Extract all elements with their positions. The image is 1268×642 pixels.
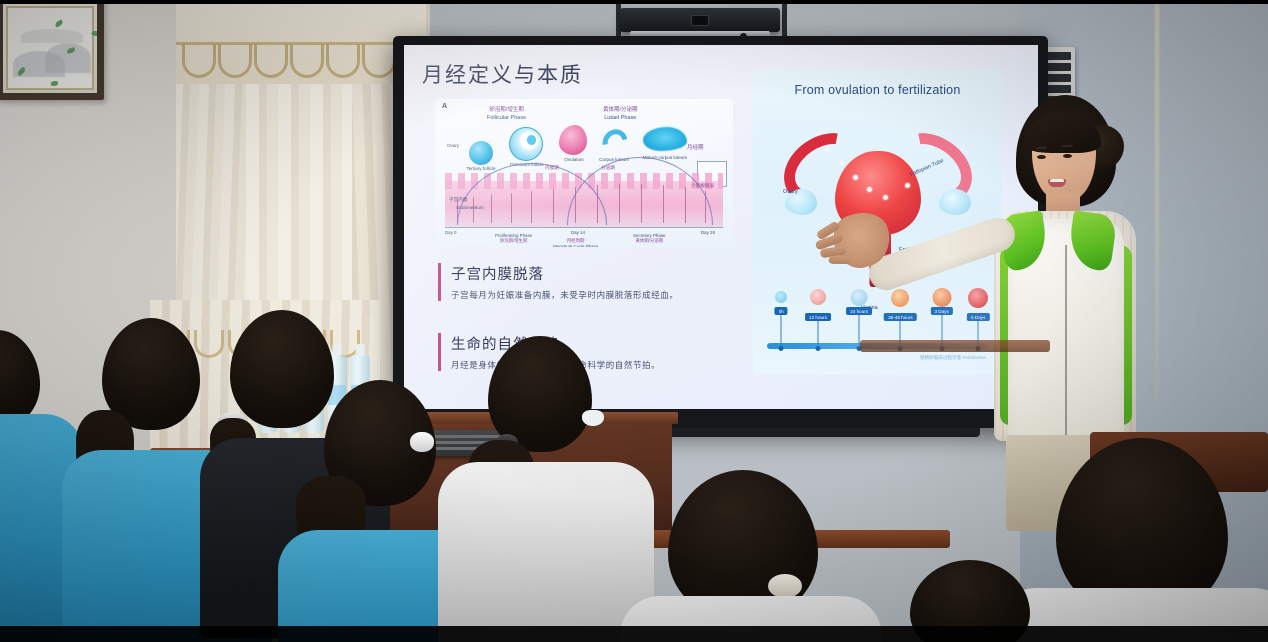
- phase-header-menstruation: 月经期: [687, 145, 704, 153]
- cycle-axis: [445, 227, 723, 228]
- menstrual-cycle-diagram: A 卵泡期/增生期 Follicular Phase 黄体期/分泌期 Lutae…: [435, 99, 733, 247]
- ovulation-illustration: [559, 125, 587, 155]
- student: [440, 336, 660, 642]
- corpus-luteum-illustration: [598, 124, 633, 159]
- panel-letter: A: [442, 103, 447, 110]
- label-tertiary-follicle: Tertiary follicle: [463, 166, 499, 171]
- letterbox-bottom: [0, 626, 1268, 642]
- axis-menstrual-cycle-phase: 月经周期 Menstrual Cycle Phase: [553, 238, 598, 247]
- label-ovulation: Ovulation: [555, 157, 593, 162]
- axis-day28: Day 28: [701, 230, 715, 235]
- face-mask: [582, 410, 604, 426]
- student: [640, 470, 870, 642]
- presenter-mouth: [1048, 179, 1066, 187]
- axis-day0: Day 0: [445, 230, 456, 235]
- label-cn-inline-3: 少量蜕膜层: [691, 183, 714, 189]
- timeline-chip-2: 24 hours: [846, 307, 872, 315]
- timeline-chip-1: 12 hours: [805, 313, 831, 321]
- tertiary-follicle-illustration: [469, 141, 493, 165]
- framed-painting: [0, 0, 104, 100]
- mature-corpus-luteum-illustration: [643, 127, 687, 151]
- timeline-chip-3: 36-48 hours: [884, 313, 917, 321]
- classroom-scene: 月经定义与本质 A 卵泡期/增生期 Follicular Phase 黄体期/分…: [0, 0, 1268, 642]
- label-ovary: Ovary: [447, 143, 459, 148]
- label-cn-inline-2: 分泌期: [601, 165, 615, 171]
- label-cn-inline-1: 内膜期: [545, 165, 559, 171]
- phase-header-follicular: 卵泡期/增生期 Follicular Phase: [487, 107, 526, 123]
- slide-section-1: 子宫内膜脱落 子宫每月为妊娠准备内膜，未受孕时内膜脱落形成经血。: [438, 263, 679, 301]
- timeline-chip-0: 0h: [775, 307, 788, 315]
- section-1-heading: 子宫内膜脱落: [451, 263, 679, 284]
- axis-proliferating-phase: Proliferating Phase 卵泡期/增生期: [495, 233, 532, 244]
- axis-day14: Day 14: [571, 230, 585, 235]
- label-repro-ovary: Ovary: [783, 189, 798, 195]
- hormone-curve-progesterone: [567, 157, 713, 225]
- letterbox-top: [0, 0, 1268, 4]
- section-1-body: 子宫每月为妊娠准备内膜，未受孕时内膜脱落形成经血。: [451, 289, 679, 301]
- video-camera-bar: [620, 8, 780, 32]
- label-endometrium: Endometrium: [447, 205, 493, 210]
- dominant-follicle-illustration: [509, 127, 543, 161]
- axis-secretory-phase: Secretory Phase 黄体期/分泌期: [633, 233, 665, 244]
- organization-swirl-logo: [1052, 291, 1082, 317]
- desk-rail-back: [860, 340, 1050, 352]
- phase-header-luteal: 黄体期/分泌期 Lutael Phase: [603, 107, 638, 123]
- label-endometrium-cn: 子宫内膜: [449, 197, 467, 203]
- camera-lens-icon: [691, 15, 709, 26]
